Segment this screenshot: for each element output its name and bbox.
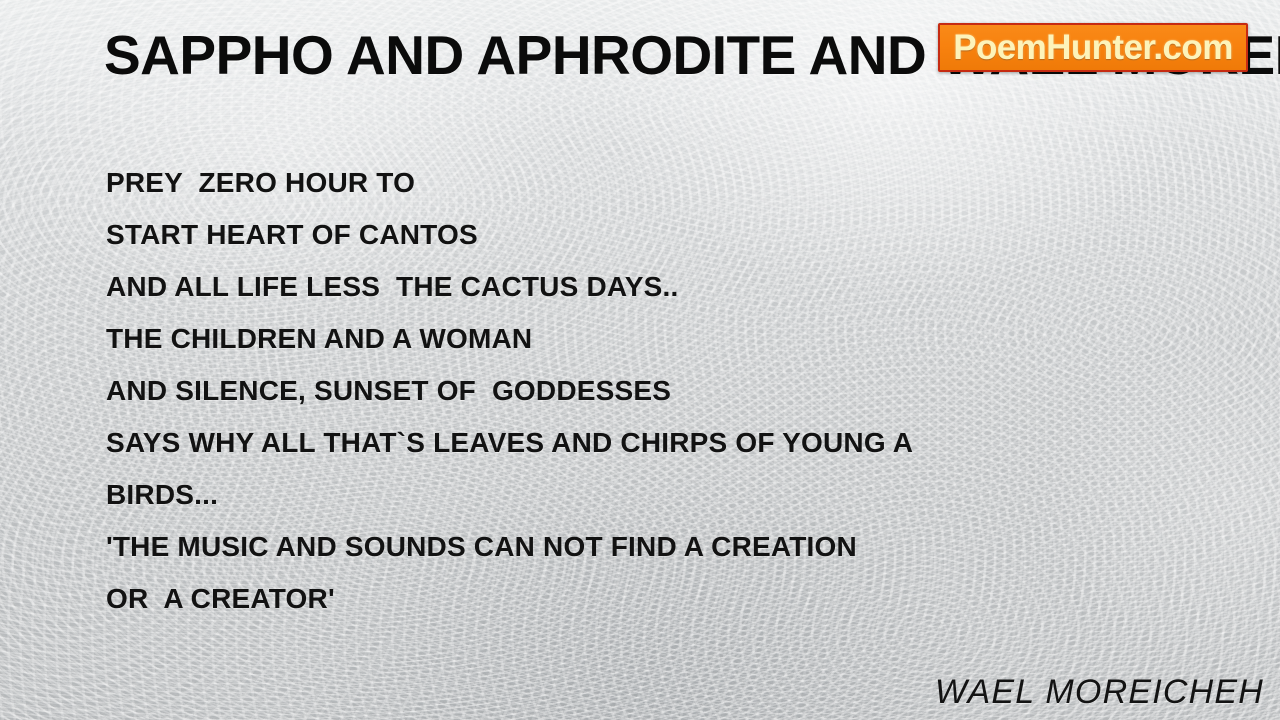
poem-line: BIRDS...: [106, 469, 1226, 521]
poem-line: START HEART OF CANTOS: [106, 209, 1226, 261]
poem-line: 'THE MUSIC AND SOUNDS CAN NOT FIND A CRE…: [106, 521, 1226, 573]
poemhunter-brand-label: PoemHunter.com: [953, 30, 1232, 65]
poem-line: OR A CREATOR': [106, 573, 1226, 625]
poem-line: AND ALL LIFE LESS THE CACTUS DAYS..: [106, 261, 1226, 313]
card-content: SAPPHO AND APHRODITE AND WAEL MOREICHEH …: [0, 0, 1280, 720]
poem-line: AND SILENCE, SUNSET OF GODDESSES: [106, 365, 1226, 417]
poem-line: PREY ZERO HOUR TO: [106, 157, 1226, 209]
poem-line: THE CHILDREN AND A WOMAN: [106, 313, 1226, 365]
poem-body: PREY ZERO HOUR TO START HEART OF CANTOS …: [106, 157, 1226, 625]
poem-author-name: WAEL MOREICHEH: [935, 673, 1264, 712]
poem-line: SAYS WHY ALL THAT`S LEAVES AND CHIRPS OF…: [106, 417, 1226, 469]
poemhunter-brand-badge[interactable]: PoemHunter.com: [938, 23, 1248, 72]
poem-card: SAPPHO AND APHRODITE AND WAEL MOREICHEH …: [0, 0, 1280, 720]
